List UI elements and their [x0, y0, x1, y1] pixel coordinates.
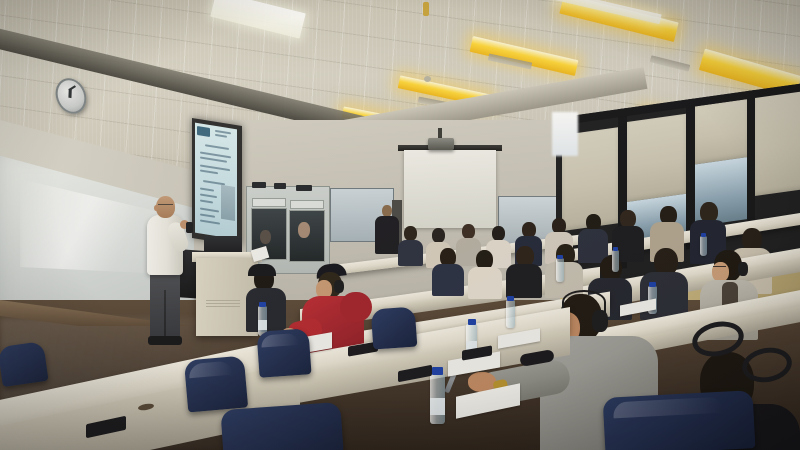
slide-text-line — [200, 193, 217, 197]
bottle-label — [258, 320, 267, 330]
lecture-hall-photo — [0, 0, 800, 450]
window-blind — [694, 99, 748, 165]
chair — [371, 307, 418, 350]
chair-highlight — [188, 361, 233, 379]
bottle-cap — [649, 282, 656, 287]
chair — [0, 341, 49, 387]
secondary-projection-screen — [404, 150, 496, 228]
attendee-head — [432, 228, 445, 243]
chair — [184, 355, 248, 412]
booth-label — [252, 198, 286, 207]
slide-text-line — [205, 144, 229, 149]
chair-highlight — [613, 397, 724, 419]
attendee-head — [404, 226, 417, 241]
sprinkler-icon — [423, 2, 429, 16]
attendee-glasses — [713, 266, 726, 271]
bottle-cap — [259, 302, 266, 307]
slide-image — [221, 185, 235, 221]
slide-text-line — [200, 169, 218, 173]
attendee-body — [432, 264, 464, 296]
chair-highlight — [261, 333, 300, 348]
bottle-cap — [432, 367, 443, 375]
water-bottle — [700, 236, 707, 256]
slide-text-line — [200, 213, 215, 217]
window-blind — [626, 114, 686, 202]
slide-logo — [197, 126, 210, 137]
booth-label — [290, 200, 324, 209]
chair — [220, 402, 343, 450]
water-bottle — [612, 250, 619, 272]
window-blind — [754, 85, 800, 196]
interpreter-silhouette — [260, 230, 271, 244]
water-bottle — [556, 258, 564, 282]
ceiling-projector — [428, 138, 454, 150]
window-mullion — [747, 90, 755, 231]
attendee-body — [506, 264, 542, 298]
interpreter-silhouette — [298, 222, 310, 238]
bottle-cap — [613, 247, 618, 251]
presenter-glasses — [158, 204, 173, 209]
bottle-cap — [468, 319, 476, 325]
chair — [256, 328, 311, 378]
bottle-cap — [701, 233, 706, 237]
water-bottle — [506, 300, 515, 328]
slide-text-line — [200, 219, 220, 224]
lectern-vent — [206, 300, 240, 308]
attendee-head — [492, 226, 505, 241]
attendee-head — [462, 224, 475, 239]
attendee-body — [468, 267, 502, 299]
window-bright-glare — [552, 112, 578, 156]
headset-earcup — [738, 262, 748, 276]
attendee-hood — [340, 292, 372, 322]
slide-text-line — [200, 199, 213, 203]
attendee-body — [398, 240, 423, 266]
presenter-leg-seam — [164, 290, 166, 340]
attendee-cap — [248, 264, 276, 276]
slide-text-line — [200, 187, 214, 191]
chair — [603, 390, 756, 450]
bottle-label — [430, 398, 445, 415]
presentation-clicker — [186, 222, 193, 233]
bottle-cap — [557, 255, 563, 259]
bottle-cap — [507, 296, 514, 301]
clock-minute-hand — [68, 89, 71, 98]
slide-text-line — [200, 156, 227, 162]
attendee-face — [712, 262, 729, 282]
booth-equipment — [252, 182, 266, 188]
slide-text-line — [200, 207, 219, 212]
projected-slide — [195, 123, 237, 240]
booth-equipment — [274, 183, 286, 189]
standing-person-body — [375, 216, 399, 254]
booth-equipment — [296, 185, 312, 191]
presenter-shoes — [148, 336, 182, 345]
slide-text-line — [215, 134, 227, 137]
water-bottle — [430, 374, 445, 424]
headset-earcup — [334, 280, 344, 293]
smoke-detector-icon — [424, 76, 431, 82]
headset-earcup — [592, 310, 608, 332]
